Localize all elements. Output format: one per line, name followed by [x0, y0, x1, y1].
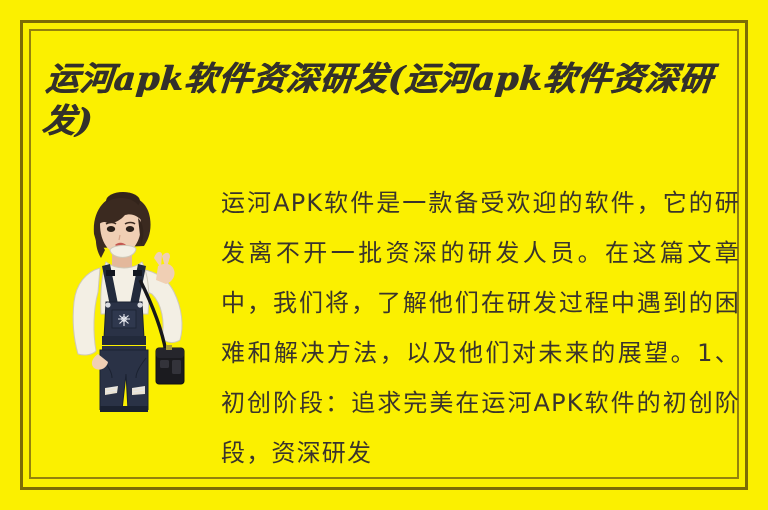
article-card: 运河apk软件资深研发(运河apk软件资深研发)	[0, 0, 768, 510]
article-body-text: 运河APK软件是一款备受欢迎的软件，它的研发离不开一批资深的研发人员。在这篇文章…	[221, 178, 740, 474]
page-title: 运河apk软件资深研发(运河apk软件资深研发)	[41, 58, 722, 142]
young-woman-illustration	[62, 188, 212, 450]
